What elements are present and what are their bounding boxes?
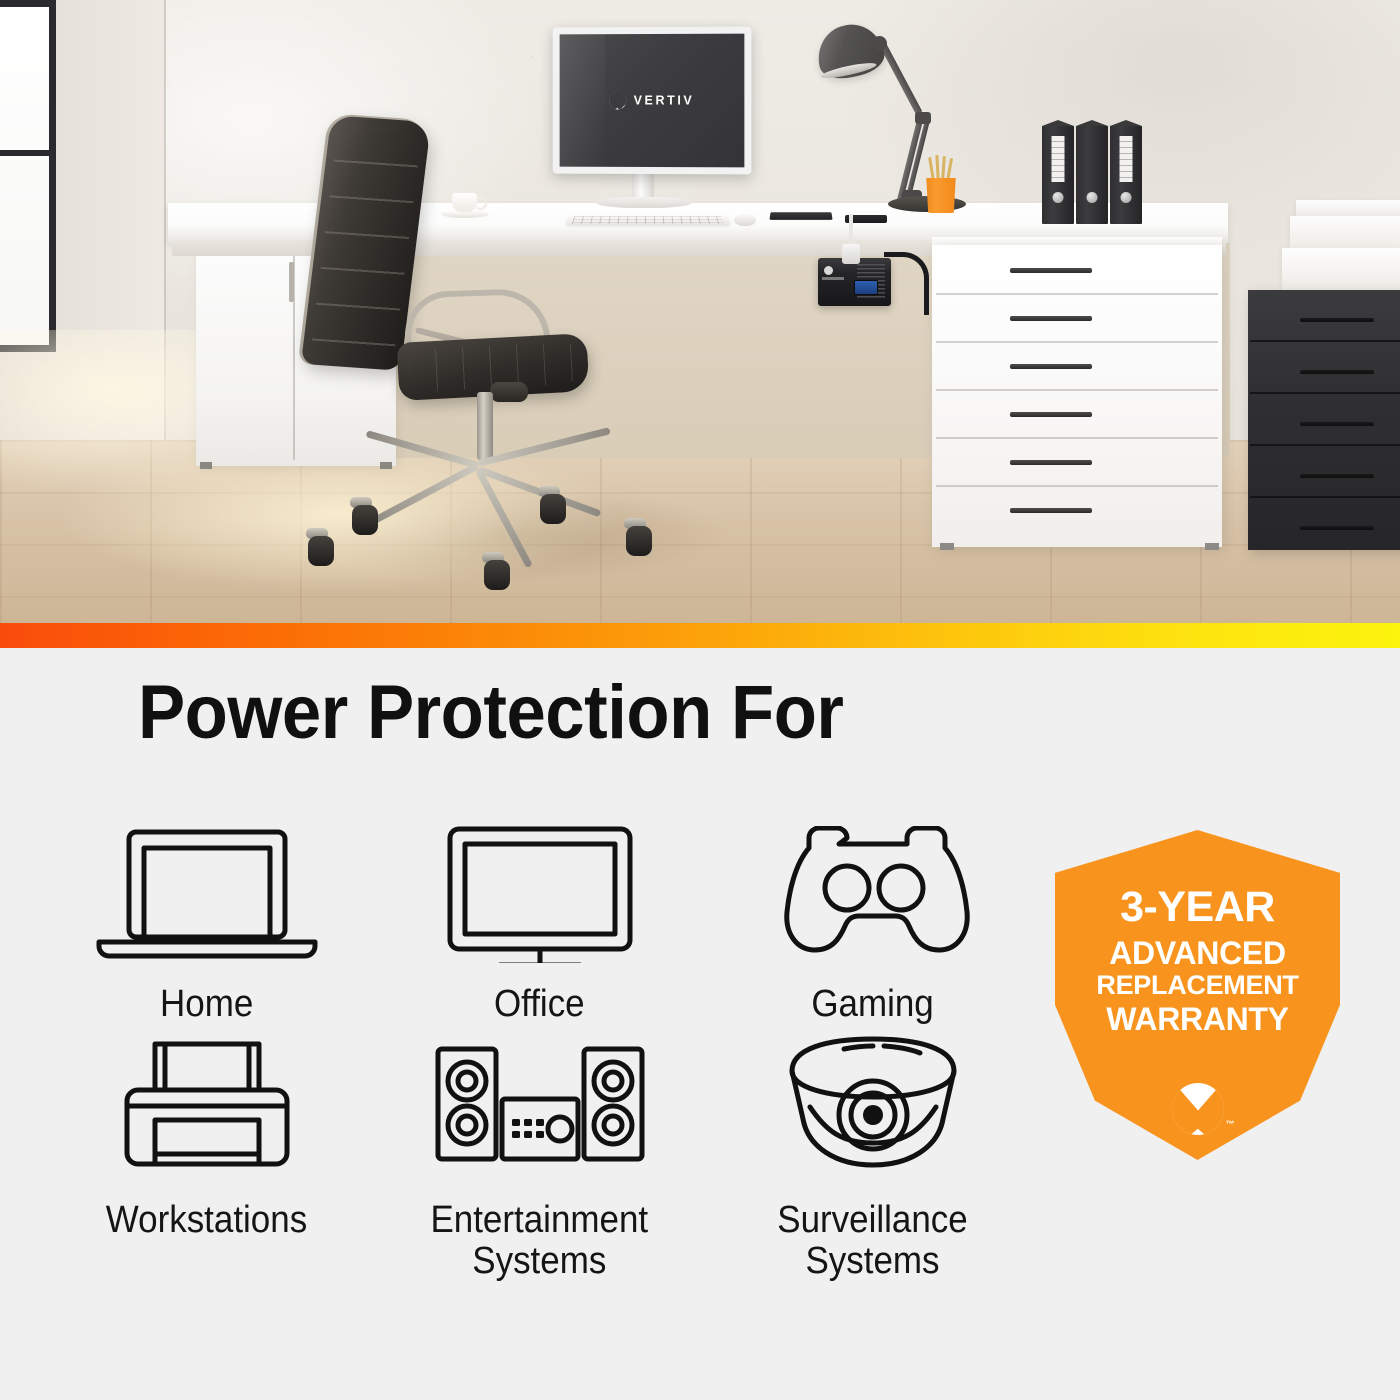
keyboard <box>566 215 729 225</box>
dark-drawer-handle <box>1300 474 1374 478</box>
window <box>0 0 56 352</box>
category-row-2: Workstations <box>40 1024 1040 1281</box>
dome-camera-icon <box>780 1024 966 1184</box>
desktop-monitor: VERTIV <box>553 27 752 175</box>
category-label: Office <box>494 984 585 1024</box>
dark-drawer-unit <box>1248 290 1400 550</box>
drawer-unit-foot-left <box>940 543 954 550</box>
dark-drawer-seam <box>1250 496 1400 498</box>
mouse <box>734 214 756 226</box>
drawer-handle <box>1010 268 1092 273</box>
category-label: Home <box>160 984 253 1024</box>
badge-line-3: REPLACEMENT <box>1055 971 1340 1000</box>
lamp-joint-lower <box>915 112 931 124</box>
cabinet-handle <box>289 262 294 302</box>
binder-2 <box>1076 126 1108 224</box>
printer-icon <box>109 1024 305 1184</box>
badge-line-4: WARRANTY <box>1055 1002 1340 1037</box>
caster-2 <box>308 536 334 566</box>
vertiv-logo-circle <box>1172 1083 1224 1135</box>
game-controller-icon <box>767 818 979 968</box>
chair-gas-cylinder <box>477 392 493 460</box>
dark-drawer-handle <box>1300 526 1374 530</box>
caster-3 <box>484 560 510 590</box>
binder-1 <box>1042 126 1074 224</box>
drawer-seam <box>936 293 1218 295</box>
dark-drawer-seam <box>1250 392 1400 394</box>
binder-ring <box>1121 192 1132 203</box>
laptop-icon <box>89 818 325 968</box>
keyboard-keys <box>572 216 724 223</box>
drawer-handle <box>1010 364 1092 369</box>
window-mullion <box>0 150 56 156</box>
hero-photo-office-scene: VERTIV <box>0 0 1400 625</box>
cabinet-foot-right <box>380 462 392 469</box>
vertiv-wordmark: VERTIV <box>634 93 695 107</box>
dark-drawer-handle <box>1300 370 1374 374</box>
category-label: EntertainmentSystems <box>431 1200 649 1281</box>
ups-cable-to-desk <box>849 214 853 246</box>
badge-line-2: ADVANCED <box>1055 936 1340 971</box>
vertiv-logo-on-screen: VERTIV <box>609 92 695 109</box>
binder-ring <box>1053 192 1064 203</box>
dark-drawer-handle <box>1300 422 1374 426</box>
drawer-handle <box>1010 508 1092 513</box>
caster-4 <box>540 494 566 524</box>
drawer-seam <box>936 437 1218 439</box>
trademark-symbol: ™ <box>1226 1119 1235 1129</box>
drawer-seam <box>936 485 1218 487</box>
warranty-badge: 3-YEAR ADVANCED REPLACEMENT WARRANTY ™ <box>1055 830 1340 1160</box>
warranty-badge-text: 3-YEAR ADVANCED REPLACEMENT WARRANTY <box>1055 886 1340 1036</box>
monitor-icon <box>440 818 640 968</box>
category-office[interactable]: Office <box>373 818 706 1024</box>
category-grid: Home Office <box>40 818 1040 1281</box>
drawer-seam <box>936 341 1218 343</box>
ups-battery-backup-device <box>818 258 891 306</box>
binder-label <box>1120 136 1133 182</box>
screen-glare <box>560 34 606 167</box>
category-row-1: Home Office <box>40 818 1040 1024</box>
stereo-system-icon <box>432 1024 648 1184</box>
white-storage-box-1 <box>1290 216 1400 250</box>
floor-sunlight-patch <box>40 445 800 625</box>
marketing-infographic: VERTIV <box>0 0 1400 1400</box>
category-label: SurveillanceSystems <box>777 1200 967 1281</box>
features-section: Power Protection For Home <box>0 648 1400 1400</box>
category-entertainment-systems[interactable]: EntertainmentSystems <box>373 1024 706 1281</box>
drawer-handle <box>1010 412 1092 417</box>
vertiv-mark-icon <box>609 92 626 109</box>
badge-line-1: 3-YEAR <box>1055 886 1340 929</box>
category-label-line1: SurveillanceSystems <box>777 1199 967 1281</box>
white-storage-box-2 <box>1282 248 1400 290</box>
vertiv-logo-icon: ™ <box>1172 1083 1224 1135</box>
notebook <box>769 212 832 220</box>
dark-drawer-handle <box>1300 318 1374 322</box>
caster-1 <box>352 505 378 535</box>
binder-label <box>1052 136 1065 182</box>
drawer-handle <box>1010 460 1092 465</box>
drawer-handle <box>1010 316 1092 321</box>
white-drawer-unit <box>932 245 1222 547</box>
cabinet-foot-left <box>200 462 212 469</box>
page-title: Power Protection For <box>138 669 843 756</box>
ups-plug-adapter <box>842 244 860 264</box>
cup-handle <box>474 197 487 210</box>
dark-drawer-seam <box>1250 340 1400 342</box>
drawer-unit-foot-right <box>1205 543 1219 550</box>
ups-lcd-display <box>854 280 878 295</box>
orange-pencil-cup <box>925 178 957 213</box>
ups-model-text <box>822 277 844 280</box>
category-surveillance-systems[interactable]: SurveillanceSystems <box>706 1024 1039 1281</box>
chair-tilt-knob <box>490 382 528 402</box>
category-workstations[interactable]: Workstations <box>40 1024 373 1281</box>
orange-yellow-gradient-divider <box>0 623 1400 648</box>
category-gaming[interactable]: Gaming <box>706 818 1039 1024</box>
category-home[interactable]: Home <box>40 818 373 1024</box>
ups-brand-logo <box>824 266 833 275</box>
binder-ring <box>1087 192 1098 203</box>
category-label: Workstations <box>106 1200 307 1240</box>
dark-drawer-seam <box>1250 444 1400 446</box>
monitor-base <box>596 197 692 208</box>
caster-5 <box>626 526 652 556</box>
binder-3 <box>1110 126 1142 224</box>
drawer-seam <box>936 389 1218 391</box>
category-label-line1: EntertainmentSystems <box>431 1199 649 1281</box>
pencils <box>929 155 954 181</box>
category-label: Gaming <box>811 984 933 1024</box>
lamp-joint-upper <box>872 36 887 51</box>
